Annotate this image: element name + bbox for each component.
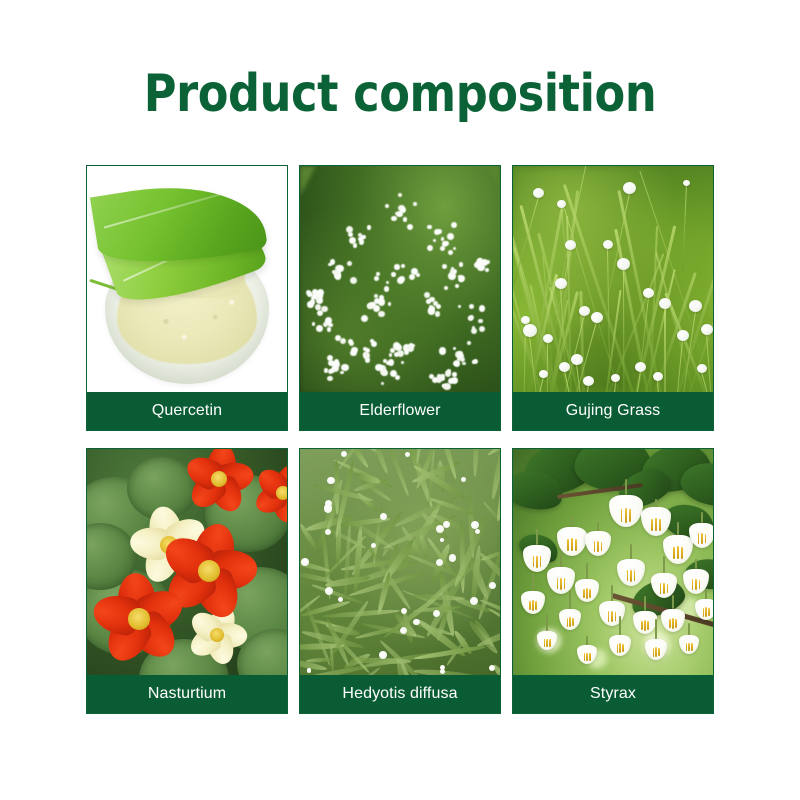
stamen <box>560 578 562 590</box>
tiny-white-flower <box>413 619 419 625</box>
ingredient-card-styrax[interactable]: Styrax <box>512 448 714 714</box>
flower-dot <box>388 302 392 306</box>
styrax-bell-flower <box>661 609 685 632</box>
stamen <box>586 588 588 599</box>
stamen <box>691 643 693 651</box>
flower-dot <box>452 372 457 377</box>
flower-pedicel <box>655 499 657 507</box>
stamen <box>533 556 535 567</box>
flower-dot <box>379 295 384 300</box>
flower-dot <box>353 243 358 248</box>
styrax-bell-flower <box>689 523 713 548</box>
flower-dot <box>349 237 356 244</box>
flower-dot <box>394 264 400 270</box>
button-flower-head <box>635 362 646 372</box>
tiny-white-flower <box>371 543 376 548</box>
flower-dot <box>436 304 441 309</box>
flower-dot <box>455 284 459 288</box>
flower-dot <box>413 202 417 206</box>
tiny-white-flower <box>436 559 443 566</box>
styrax-bell-flower <box>641 507 671 536</box>
button-flower-head <box>565 240 576 250</box>
button-flower-head <box>523 324 537 337</box>
flower-dot <box>316 325 323 332</box>
flower-dot <box>327 327 332 332</box>
stamen <box>532 600 534 611</box>
stamen <box>655 518 657 531</box>
flower-dot <box>376 272 380 276</box>
flower-center <box>128 608 150 630</box>
flower-dot <box>375 364 382 371</box>
quercetin-photo <box>87 166 287 394</box>
styrax-photo <box>513 449 713 677</box>
stamen <box>621 509 623 523</box>
flower-pedicel <box>655 619 657 639</box>
button-flower-head <box>623 182 636 194</box>
stamen <box>647 621 649 630</box>
button-flower-head <box>591 312 603 323</box>
flower-dot <box>330 259 335 264</box>
flower-dot <box>459 354 464 359</box>
ingredient-label-nasturtium: Nasturtium <box>87 675 287 713</box>
flower-dot <box>429 374 434 379</box>
stamen <box>630 570 632 582</box>
stamen <box>675 619 677 628</box>
tiny-white-flower <box>461 477 466 482</box>
stamen <box>589 653 591 661</box>
elderflower-photo <box>300 166 500 394</box>
stamen <box>701 533 703 544</box>
hedyotis-diffusa-photo <box>300 449 500 677</box>
stamen <box>619 643 621 653</box>
stamen <box>529 601 531 611</box>
stamen <box>601 542 603 552</box>
stamen <box>672 618 674 629</box>
page-title: Product composition <box>56 68 744 120</box>
styrax-bell-flower <box>559 609 581 630</box>
flower-dot <box>374 276 379 281</box>
stamen <box>569 617 571 627</box>
flower-pedicel <box>597 522 599 531</box>
flower-pedicel <box>619 616 621 635</box>
flower-pedicel <box>677 522 679 535</box>
flower-pedicel <box>586 636 588 645</box>
flower-pedicel <box>630 544 632 559</box>
styrax-bell-flower <box>679 635 699 654</box>
ingredient-card-nasturtium[interactable]: Nasturtium <box>86 448 288 714</box>
styrax-bell-flower <box>599 601 625 626</box>
stamen <box>708 608 710 616</box>
stamen <box>535 601 537 610</box>
stamen <box>572 618 574 626</box>
stamen <box>575 539 577 550</box>
nasturtium-photo <box>87 449 287 677</box>
ingredient-label-quercetin: Quercetin <box>87 392 287 430</box>
button-flower-head <box>659 298 671 309</box>
flower-dot <box>448 250 453 255</box>
styrax-bell-flower <box>633 611 657 634</box>
flower-dot <box>324 368 329 373</box>
flower-pedicel <box>532 573 534 591</box>
ingredient-label-elderflower: Elderflower <box>300 392 500 430</box>
stamen <box>557 578 559 589</box>
flower-dot <box>370 339 374 343</box>
stamen <box>571 538 573 551</box>
flower-pedicel <box>688 623 690 635</box>
flower-dot <box>443 383 450 390</box>
ingredient-label-hedyotis-diffusa: Hedyotis diffusa <box>300 675 500 713</box>
flower-dot <box>407 224 413 230</box>
styrax-bell-flower <box>609 495 643 527</box>
styrax-bell-flower <box>537 631 557 650</box>
stamen <box>615 612 617 622</box>
flower-pedicel <box>705 590 707 599</box>
flower-dot <box>390 370 397 377</box>
ingredient-card-quercetin[interactable]: Quercetin <box>86 165 288 431</box>
ingredient-grid: Quercetin Elderflower Gujing Grass Nastu… <box>86 165 714 714</box>
stamen <box>651 519 653 531</box>
button-flower-head <box>677 330 689 341</box>
styrax-bell-flower <box>577 645 597 664</box>
stamen <box>688 643 690 652</box>
flower-pedicel <box>560 550 562 567</box>
flower-dot <box>397 277 404 284</box>
stamen <box>658 648 660 656</box>
flower-dot <box>444 241 449 246</box>
flower-dot <box>312 322 315 325</box>
flower-dot <box>327 376 333 382</box>
flower-pedicel <box>672 595 674 609</box>
flower-dot <box>391 216 397 222</box>
flower-dot <box>454 360 461 367</box>
flower-dot <box>316 291 320 295</box>
ingredient-label-gujing-grass: Gujing Grass <box>513 392 713 430</box>
stamen <box>629 509 631 522</box>
styrax-bell-flower <box>609 635 631 656</box>
flower-dot <box>374 294 378 298</box>
stamen <box>653 648 655 657</box>
flower-dot <box>459 262 463 266</box>
flower-dot <box>359 239 365 245</box>
button-flower-head <box>559 362 570 372</box>
tiny-white-flower <box>475 529 480 534</box>
flower-dot <box>453 247 456 250</box>
stamen <box>589 589 591 598</box>
flower-dot <box>327 355 333 361</box>
tiny-white-flower <box>471 521 479 529</box>
flower-pedicel <box>569 590 571 609</box>
styrax-bell-flower <box>585 531 611 556</box>
tiny-white-flower <box>470 597 478 605</box>
flower-pedicel <box>695 559 697 569</box>
flower-pedicel <box>625 479 627 495</box>
flower-pedicel <box>611 585 613 601</box>
stamen <box>625 508 627 523</box>
ingredient-label-styrax: Styrax <box>513 675 713 713</box>
flower-center <box>211 471 227 487</box>
stamen <box>673 547 675 559</box>
flower-center <box>276 486 287 500</box>
gujing-grass-photo <box>513 166 713 394</box>
tiny-white-flower <box>405 452 410 457</box>
styrax-bell-flower <box>645 639 667 660</box>
ingredient-card-elderflower[interactable]: Elderflower <box>299 165 501 431</box>
button-flower-head <box>555 278 567 289</box>
stamen <box>644 620 646 631</box>
flower-pedicel <box>536 529 538 545</box>
flower-dot <box>346 226 353 233</box>
tiny-white-flower <box>341 451 347 457</box>
styrax-bell-flower <box>547 567 575 594</box>
button-flower-head <box>571 354 583 365</box>
stamen <box>705 534 707 544</box>
button-flower-head <box>579 306 590 316</box>
flower-dot <box>334 270 339 275</box>
stamen <box>583 589 585 599</box>
tiny-white-flower <box>325 587 333 595</box>
flower-dot <box>350 277 357 284</box>
tiny-white-flower <box>489 582 496 589</box>
flower-pedicel <box>701 512 703 523</box>
stamen <box>705 607 707 617</box>
stamen <box>549 639 551 647</box>
flower-dot <box>398 193 402 197</box>
flower-dot <box>435 311 441 317</box>
tiny-white-flower <box>324 504 332 512</box>
stamen <box>567 539 569 551</box>
ingredient-card-gujing-grass[interactable]: Gujing Grass <box>512 165 714 431</box>
styrax-bell-flower <box>617 559 645 586</box>
tiny-white-flower <box>379 651 387 659</box>
styrax-bell-flower <box>521 591 545 614</box>
styrax-bell-flower <box>651 573 677 598</box>
flower-dot <box>427 245 433 251</box>
flower-dot <box>433 239 436 242</box>
flower-dot <box>439 347 446 354</box>
stamen <box>641 621 643 631</box>
flower-pedicel <box>663 556 665 573</box>
stamen <box>677 546 679 559</box>
flower-dot <box>445 370 451 376</box>
stamen <box>663 583 665 594</box>
stamen <box>597 541 599 552</box>
button-flower-head <box>617 258 630 270</box>
tiny-white-flower <box>380 513 387 520</box>
flower-dot <box>361 315 368 322</box>
button-flower-head <box>583 376 594 386</box>
ingredient-card-hedyotis-diffusa[interactable]: Hedyotis diffusa <box>299 448 501 714</box>
flower-dot <box>400 207 406 213</box>
stamen <box>667 584 669 594</box>
styrax-bell-flower <box>695 599 713 620</box>
flower-dot <box>330 361 335 366</box>
product-composition-poster: Product composition Quercetin <box>0 0 800 800</box>
stamen <box>617 644 619 653</box>
tiny-white-flower <box>489 665 495 671</box>
stamen <box>567 618 569 627</box>
stamen <box>699 580 701 590</box>
stamen <box>695 579 697 590</box>
stamen <box>659 519 661 530</box>
flower-pedicel <box>586 563 588 579</box>
flower-dot <box>451 222 457 228</box>
stamen <box>655 647 657 657</box>
flower-dot <box>328 369 333 374</box>
stamen <box>681 547 683 558</box>
stamen <box>703 608 705 617</box>
flower-dot <box>411 344 414 347</box>
button-flower-head <box>701 324 713 335</box>
button-flower-head <box>643 288 654 298</box>
tiny-white-flower <box>443 521 450 528</box>
flower-dot <box>315 304 321 310</box>
flower-pedicel <box>546 614 548 631</box>
stamen <box>586 653 588 662</box>
flower-dot <box>462 362 465 365</box>
flower-center <box>210 628 224 642</box>
tiny-white-flower <box>440 669 445 674</box>
styrax-bell-flower <box>575 579 599 602</box>
stamen <box>536 556 538 568</box>
button-flower-head <box>689 300 702 312</box>
flower-dot <box>447 233 454 240</box>
flower-pedicel <box>644 596 646 611</box>
stamen <box>622 644 624 652</box>
button-flower-head <box>533 188 544 198</box>
flower-pedicel <box>571 517 573 527</box>
stamen <box>627 570 629 581</box>
flower-dot <box>403 217 408 222</box>
stamen <box>611 611 613 622</box>
flower-dot <box>391 272 396 277</box>
flower-dot <box>427 225 432 230</box>
stamen <box>669 619 671 629</box>
flower-dot <box>440 246 445 251</box>
stamen <box>546 639 548 648</box>
flower-dot <box>388 359 395 366</box>
